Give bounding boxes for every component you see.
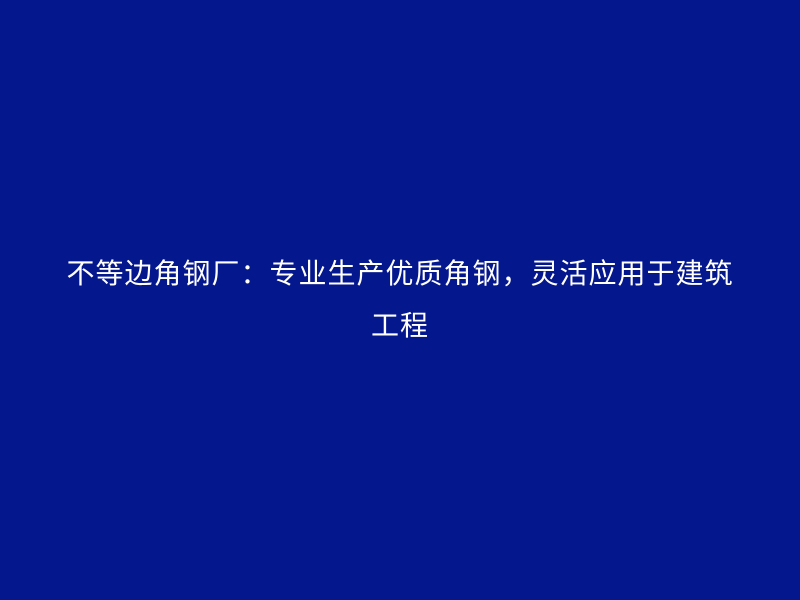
headline-block: 不等边角钢厂：专业生产优质角钢，灵活应用于建筑工程 bbox=[55, 248, 745, 352]
page-title: 不等边角钢厂：专业生产优质角钢，灵活应用于建筑工程 bbox=[55, 248, 745, 352]
banner-canvas: 不等边角钢厂：专业生产优质角钢，灵活应用于建筑工程 bbox=[0, 0, 800, 600]
